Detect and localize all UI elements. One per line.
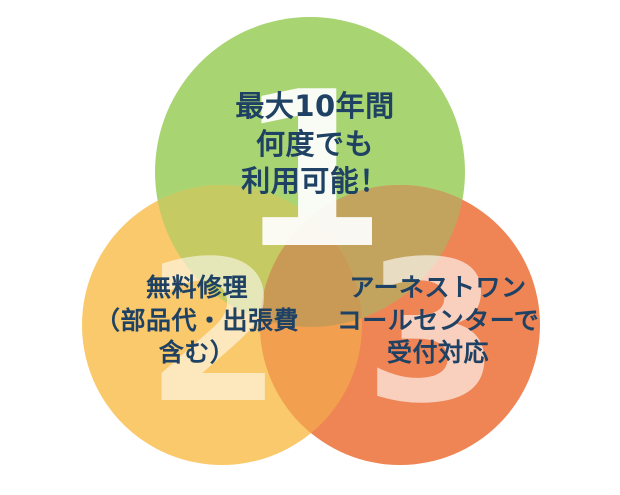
venn-diagram-canvas: 1 2 3 最大10年間 何度でも 利用可能！ 無料修理 （部品代・出張費 含む… [0, 0, 620, 495]
venn-label-left: 無料修理 （部品代・出張費 含む） [72, 272, 322, 370]
venn-circles-graphic: 1 2 3 [0, 0, 620, 495]
venn-label-top: 最大10年間 何度でも 利用可能！ [190, 88, 440, 201]
venn-label-right: アーネストワン コールセンターで 受付対応 [313, 272, 563, 370]
